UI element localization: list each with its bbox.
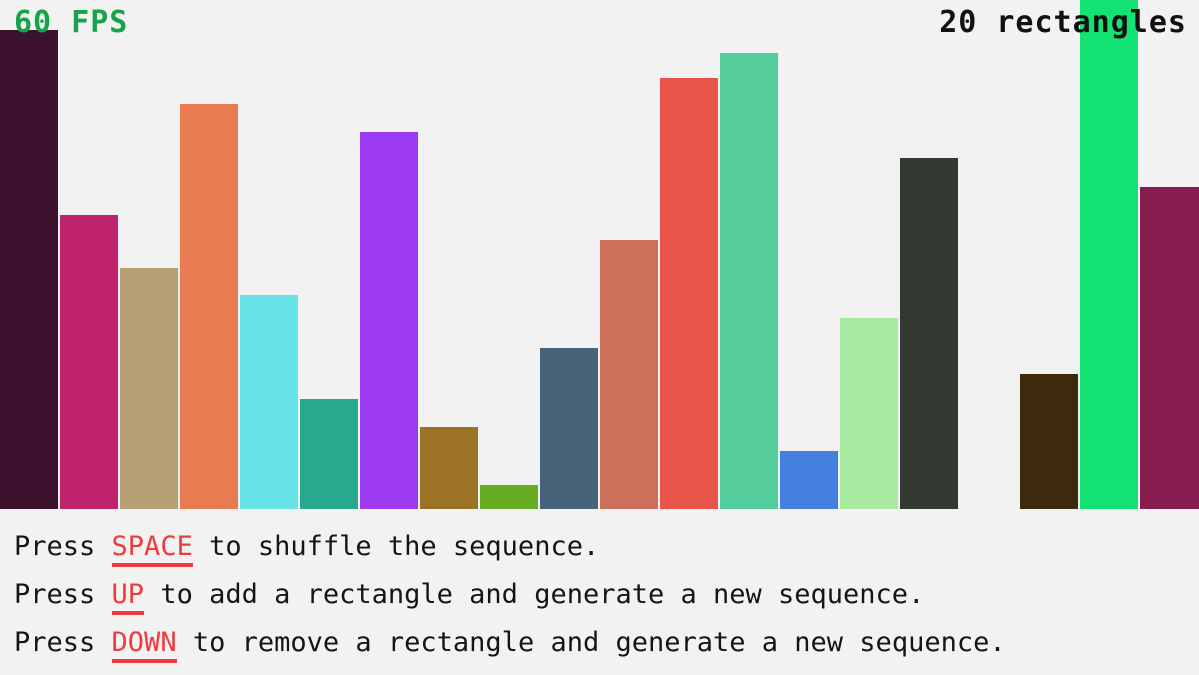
- bar-16-charcoal: [900, 158, 958, 509]
- bar-10-slate-blue: [540, 348, 598, 509]
- bar-18-dark-brown: [1020, 374, 1078, 509]
- instruction-line-down: Press DOWN to remove a rectangle and gen…: [14, 619, 1199, 667]
- key-space[interactable]: SPACE: [112, 531, 193, 567]
- bar-1-dark-plum: [0, 30, 58, 509]
- bar-3-tan: [120, 268, 178, 509]
- bar-9-olive-green: [480, 485, 538, 509]
- app-window: 60 FPS 20 rectangles Press SPACE to shuf…: [0, 0, 1199, 675]
- bar-11-terracotta: [600, 240, 658, 509]
- bar-6-teal: [300, 399, 358, 509]
- instructions-panel: Press SPACE to shuffle the sequence. Pre…: [0, 509, 1199, 675]
- bar-13-mint-green: [720, 53, 778, 509]
- key-down[interactable]: DOWN: [112, 627, 177, 663]
- instruction-line-space: Press SPACE to shuffle the sequence.: [14, 523, 1199, 571]
- instruction-prefix: Press: [14, 627, 112, 658]
- rectangle-count-label: 20 rectangles: [939, 6, 1187, 40]
- key-up[interactable]: UP: [112, 579, 145, 615]
- bar-15-light-green: [840, 318, 898, 509]
- bar-12-red: [660, 78, 718, 509]
- instruction-suffix: to remove a rectangle and generate a new…: [177, 627, 1006, 658]
- bar-7-purple: [360, 132, 418, 509]
- instruction-prefix: Press: [14, 531, 112, 562]
- bar-14-blue: [780, 451, 838, 509]
- instruction-suffix: to add a rectangle and generate a new se…: [144, 579, 924, 610]
- bar-20-wine: [1140, 187, 1199, 509]
- bar-19-bright-green: [1080, 0, 1138, 509]
- bar-4-orange: [180, 104, 238, 509]
- instruction-line-up: Press UP to add a rectangle and generate…: [14, 571, 1199, 619]
- bar-5-cyan: [240, 295, 298, 509]
- instruction-suffix: to shuffle the sequence.: [193, 531, 599, 562]
- instruction-prefix: Press: [14, 579, 112, 610]
- bar-8-brown-gold: [420, 427, 478, 509]
- bar-2-crimson-pink: [60, 215, 118, 509]
- fps-counter: 60 FPS: [14, 6, 128, 40]
- bar-chart-canvas[interactable]: [0, 0, 1199, 509]
